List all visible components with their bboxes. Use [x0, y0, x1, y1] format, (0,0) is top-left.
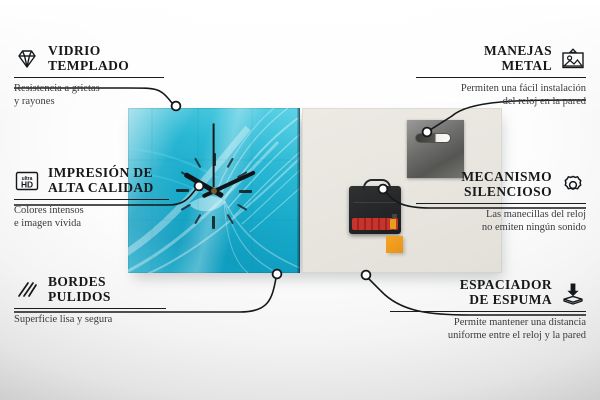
- callout-mecanismo-silencioso: MECANISMO SILENCIOSO Las manecillas del …: [416, 170, 586, 234]
- diamond-icon: [14, 47, 40, 71]
- callout-vidrio-templado: VIDRIO TEMPLADO Resistencia a grietas y …: [14, 44, 164, 108]
- callout-subtitle: Colores intensos e imagen vívida: [14, 204, 169, 230]
- callout-rule: [14, 199, 169, 200]
- callout-subtitle: Permiten una fácil instalación del reloj…: [416, 82, 586, 108]
- callout-subtitle: Resistencia a grietas y rayones: [14, 82, 164, 108]
- gear-icon: [560, 173, 586, 197]
- infographic-canvas: VIDRIO TEMPLADO Resistencia a grietas y …: [0, 0, 600, 400]
- endpoint-mecanismo: [379, 185, 388, 194]
- callout-title: MECANISMO SILENCIOSO: [461, 170, 552, 199]
- press-down-icon: [560, 281, 586, 305]
- callout-rule: [416, 203, 586, 204]
- callout-rule: [14, 77, 164, 78]
- endpoint-manejas: [423, 128, 432, 137]
- callout-title: MANEJAS METAL: [484, 44, 552, 73]
- callout-rule: [416, 77, 586, 78]
- callout-espaciador-espuma: ESPACIADOR DE ESPUMA Permite mantener un…: [390, 278, 586, 342]
- wall-frame-icon: [560, 47, 586, 71]
- endpoint-vidrio: [172, 102, 181, 111]
- endpoint-bordes: [273, 270, 282, 279]
- callout-title: VIDRIO TEMPLADO: [48, 44, 129, 73]
- callout-subtitle: Las manecillas del reloj no emiten ningú…: [416, 208, 586, 234]
- callout-manejas-metal: MANEJAS METAL Permiten una fácil instala…: [416, 44, 586, 108]
- callout-rule: [390, 311, 586, 312]
- callout-title: ESPACIADOR DE ESPUMA: [460, 278, 552, 307]
- svg-text:HD: HD: [21, 179, 33, 189]
- callout-title: IMPRESIÓN DE ALTA CALIDAD: [48, 166, 154, 195]
- polished-edges-icon: [14, 278, 40, 302]
- callout-subtitle: Permite mantener una distancia uniforme …: [390, 316, 586, 342]
- ultra-hd-icon: ultra HD: [14, 169, 40, 193]
- callout-rule: [14, 308, 166, 309]
- callout-impresion-alta-calidad: ultra HD IMPRESIÓN DE ALTA CALIDAD Color…: [14, 166, 169, 230]
- callout-title: BORDES PULIDOS: [48, 275, 111, 304]
- endpoint-espaciador: [362, 271, 371, 280]
- callout-subtitle: Superficie lisa y segura: [14, 313, 166, 326]
- endpoint-impresion: [195, 182, 204, 191]
- callout-bordes-pulidos: BORDES PULIDOS Superficie lisa y segura: [14, 275, 166, 326]
